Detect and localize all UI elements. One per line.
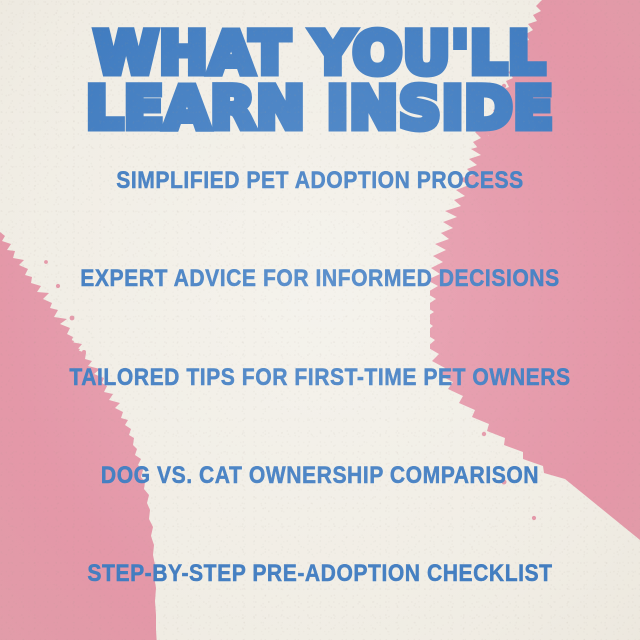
list-item: Step-by-Step Pre-Adoption Checklist [38,560,601,588]
poster-content: What You'll Learn Inside Simplified Pet … [0,0,640,640]
title-line-1: What You'll [86,26,554,81]
feature-list: Simplified Pet Adoption Process Expert A… [0,135,640,640]
list-item: Simplified Pet Adoption Process [38,167,601,195]
title-line-2: Learn Inside [86,81,554,136]
list-item: Dog vs. Cat Ownership Comparison [38,462,601,490]
poster-canvas: What You'll Learn Inside Simplified Pet … [0,0,640,640]
list-item: Tailored Tips for First-Time Pet Owners [38,364,601,392]
list-item: Expert Advice for Informed Decisions [38,265,601,293]
page-title: What You'll Learn Inside [86,0,554,135]
